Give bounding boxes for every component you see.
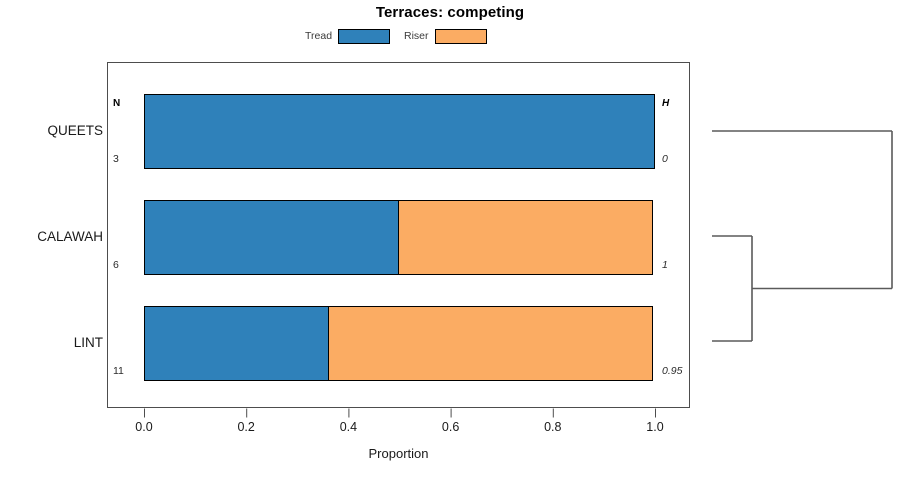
- h-column-header: H: [662, 98, 692, 109]
- bar-segment-tread[interactable]: [144, 306, 330, 381]
- x-axis-ticks: [100, 405, 700, 421]
- bar-segment-tread[interactable]: [144, 200, 400, 275]
- n-value-calawah: 6: [113, 259, 139, 271]
- x-tick-label-0: 0.0: [122, 420, 166, 434]
- category-label-queets: QUEETS: [0, 123, 103, 138]
- x-axis-title: Proportion: [107, 446, 690, 461]
- chart-legend: Tread Riser: [0, 27, 900, 45]
- x-tick-label-4: 0.8: [531, 420, 575, 434]
- legend-swatch-tread: [338, 29, 390, 44]
- legend-entry-riser[interactable]: Riser: [404, 27, 487, 45]
- h-value-queets: 0: [662, 153, 696, 165]
- legend-swatch-riser: [435, 29, 487, 44]
- x-tick-label-2: 0.4: [326, 420, 370, 434]
- bar-row-calawah: [144, 200, 655, 275]
- legend-label-tread: Tread: [305, 27, 332, 45]
- x-tick-label-3: 0.6: [429, 420, 473, 434]
- category-label-calawah: CALAWAH: [0, 229, 103, 244]
- n-value-queets: 3: [113, 153, 139, 165]
- x-tick-label-5: 1.0: [633, 420, 677, 434]
- n-column-header: N: [113, 98, 139, 109]
- chart-figure: Terraces: competing Tread Riser QUEETS C…: [0, 0, 900, 480]
- h-value-calawah: 1: [662, 259, 696, 271]
- bar-row-queets: [144, 94, 655, 169]
- legend-label-riser: Riser: [404, 27, 429, 45]
- bar-row-lint: [144, 306, 655, 381]
- bar-segment-tread[interactable]: [144, 94, 655, 169]
- chart-title: Terraces: competing: [0, 4, 900, 21]
- legend-entry-tread[interactable]: Tread: [305, 27, 390, 45]
- h-value-lint: 0.95: [662, 365, 696, 377]
- category-label-lint: LINT: [0, 335, 103, 350]
- bar-segment-riser[interactable]: [398, 200, 654, 275]
- dendrogram: [700, 62, 900, 408]
- bar-segment-riser[interactable]: [328, 306, 653, 381]
- x-tick-label-1: 0.2: [224, 420, 268, 434]
- n-value-lint: 11: [113, 365, 139, 377]
